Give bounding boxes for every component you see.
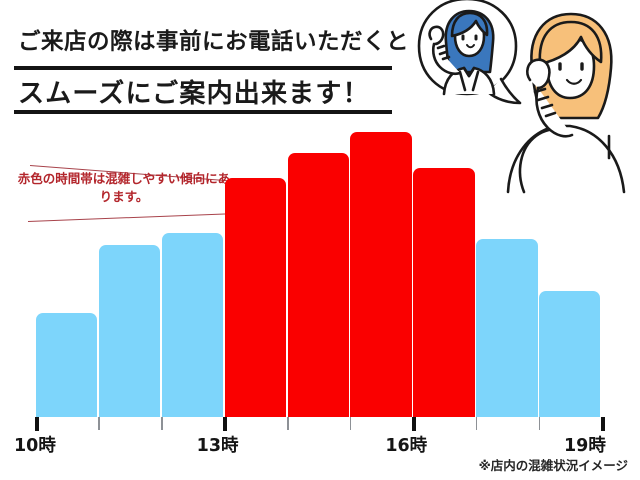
axis-tick <box>539 417 541 430</box>
chart-bar-14時 <box>288 153 349 417</box>
woman-on-phone-figure <box>508 14 624 192</box>
chart-bar-10時 <box>36 313 97 417</box>
axis-tick <box>35 417 39 431</box>
chart-bar-12時 <box>162 233 223 417</box>
chart-bar-13時 <box>225 178 286 417</box>
axis-tick <box>601 417 605 431</box>
axis-label-19時: 19時 <box>564 432 606 457</box>
infographic-canvas: ご来店の際は事前にお電話いただくと スムーズにご案内出来ます！ 赤色の時間帯は混… <box>0 0 640 480</box>
chart-axis-ticks <box>0 417 640 433</box>
chart-bar-18時 <box>539 291 600 417</box>
axis-tick <box>161 417 163 430</box>
axis-tick <box>476 417 478 430</box>
chart-bar-15時 <box>350 132 411 418</box>
axis-tick <box>223 417 227 431</box>
axis-tick <box>350 417 352 430</box>
chart-bar-17時 <box>476 239 537 417</box>
axis-label-13時: 13時 <box>197 432 239 457</box>
axis-tick <box>287 417 289 430</box>
chart-bar-16時 <box>413 168 474 417</box>
axis-label-10時: 10時 <box>14 432 56 457</box>
axis-tick <box>412 417 416 431</box>
chart-bar-11時 <box>99 245 160 417</box>
illustration-svg <box>408 0 640 196</box>
phone-call-illustration <box>408 0 640 196</box>
chart-footnote: ※店内の混雑状況イメージ <box>479 455 628 474</box>
axis-tick <box>98 417 100 430</box>
axis-label-16時: 16時 <box>385 432 427 457</box>
